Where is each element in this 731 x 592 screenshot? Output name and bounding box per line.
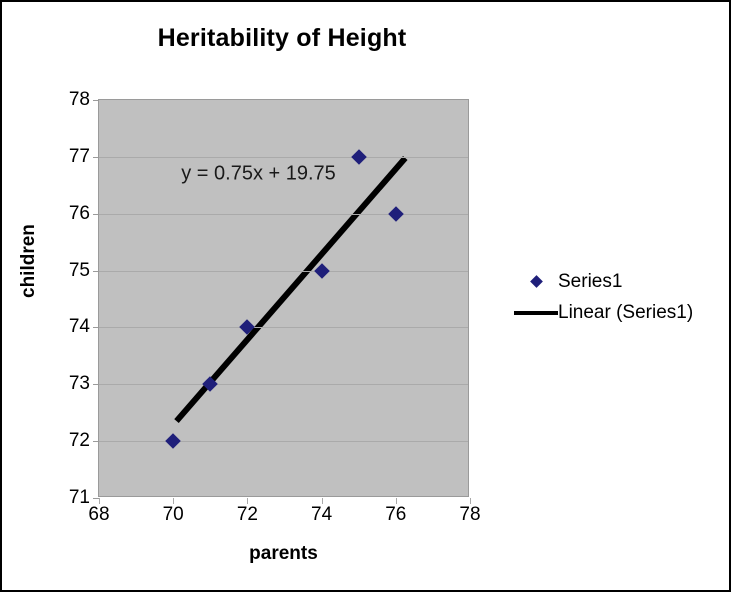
y-axis-tick-mark xyxy=(93,271,99,272)
chart-legend: Series1 Linear (Series1) xyxy=(514,266,726,328)
gridline-horizontal xyxy=(99,384,468,385)
y-axis-tick-label: 74 xyxy=(69,316,90,338)
y-axis-tick-mark xyxy=(93,157,99,158)
x-axis-tick-label: 76 xyxy=(385,504,406,526)
legend-label-series1: Series1 xyxy=(558,271,622,293)
gridline-horizontal xyxy=(99,327,468,328)
y-axis-tick-mark xyxy=(93,214,99,215)
x-axis-tick-label: 72 xyxy=(237,504,258,526)
x-axis-tick-label: 68 xyxy=(88,504,109,526)
diamond-marker-icon xyxy=(514,277,558,286)
legend-label-linear-series1: Linear (Series1) xyxy=(558,302,693,324)
legend-item-linear-series1[interactable]: Linear (Series1) xyxy=(514,297,726,328)
y-axis-tick-label: 71 xyxy=(69,487,90,509)
y-axis-title: children xyxy=(18,224,40,298)
x-axis-title: parents xyxy=(98,543,469,565)
x-axis-tick-label: 70 xyxy=(163,504,184,526)
legend-item-series1[interactable]: Series1 xyxy=(514,266,726,297)
chart-container: Heritability of Height y = 0.75x + 19.75… xyxy=(0,0,731,592)
gridline-horizontal xyxy=(99,214,468,215)
gridline-horizontal xyxy=(99,157,468,158)
chart-title: Heritability of Height xyxy=(2,24,562,53)
y-axis-tick-label: 77 xyxy=(69,146,90,168)
plot-area: y = 0.75x + 19.75 7172737475767778687072… xyxy=(98,99,469,497)
y-axis-tick-mark xyxy=(93,441,99,442)
y-axis-tick-label: 73 xyxy=(69,373,90,395)
y-axis-tick-label: 76 xyxy=(69,203,90,225)
y-axis-tick-label: 72 xyxy=(69,430,90,452)
y-axis-tick-label: 75 xyxy=(69,260,90,282)
trendline-svg xyxy=(99,100,468,496)
trendline-equation-label: y = 0.75x + 19.75 xyxy=(181,162,336,185)
y-axis-tick-label: 78 xyxy=(69,89,90,111)
x-axis-tick-label: 78 xyxy=(459,504,480,526)
line-marker-icon xyxy=(514,311,558,315)
y-axis-tick-mark xyxy=(93,327,99,328)
y-axis-tick-mark xyxy=(93,100,99,101)
gridline-horizontal xyxy=(99,271,468,272)
y-axis-tick-mark xyxy=(93,384,99,385)
gridline-horizontal xyxy=(99,441,468,442)
x-axis-tick-label: 74 xyxy=(311,504,332,526)
